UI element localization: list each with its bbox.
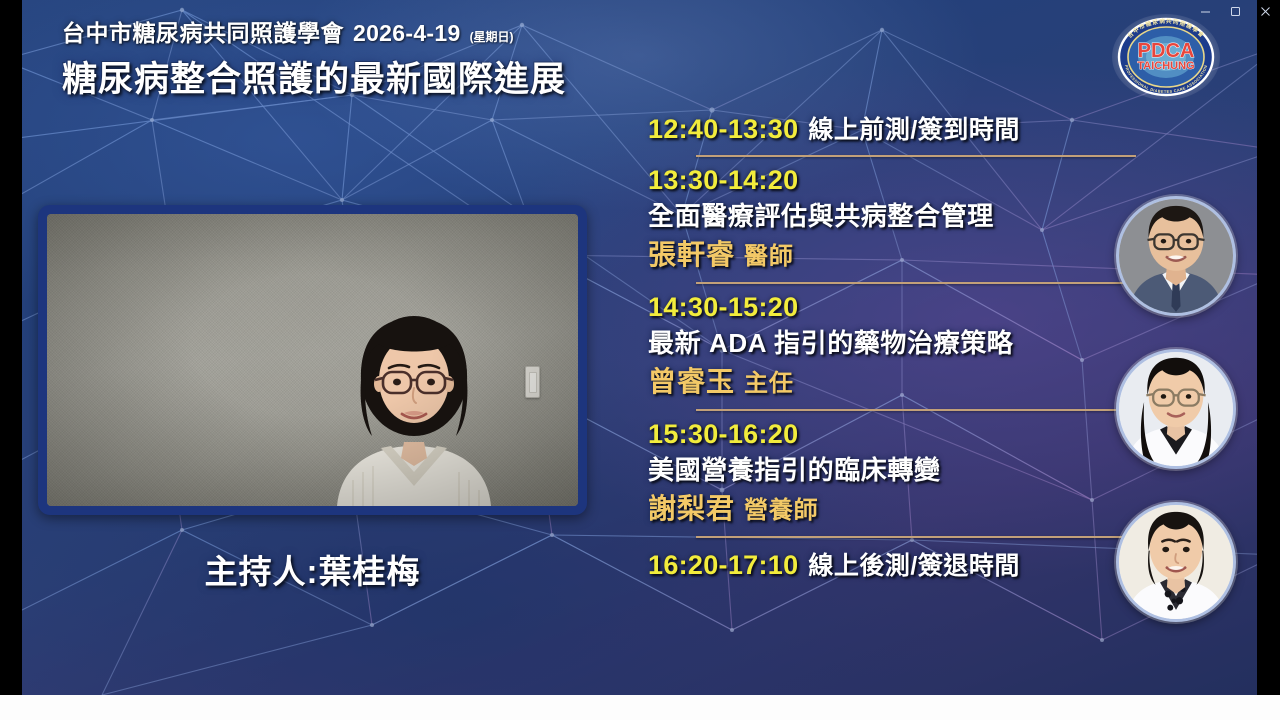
speaker-portrait-icon (1119, 352, 1233, 466)
speaker-avatar (1116, 502, 1236, 622)
agenda-time: 15:30-16:20 (648, 419, 1148, 450)
agenda-item: 16:20-17:10 線上後測/簽退時間 (648, 546, 1148, 582)
agenda-item: 13:30-14:20 全面醫療評估與共病整合管理 張軒睿 醫師 (648, 165, 1148, 273)
agenda-speaker-name: 張軒睿 (648, 233, 735, 273)
window-controls (1190, 0, 1280, 22)
agenda-speaker-name: 曾睿玉 (648, 360, 735, 400)
agenda-note: 線上前測/簽到時間 (808, 110, 1019, 146)
slide-header: 台中市糖尿病共同照護學會 2026-4-19 (星期日) 糖尿病整合照護的最新國… (62, 14, 566, 102)
agenda-speaker-name: 謝梨君 (648, 487, 735, 527)
agenda-speaker-role: 主任 (744, 363, 794, 398)
agenda-speaker-role: 營養師 (744, 490, 818, 525)
pdca-logo: 台中市糖尿病共同照護學會 PROFESSIONAL DIABETES CARE … (1110, 13, 1222, 101)
speaker-avatar (1116, 349, 1236, 469)
close-button[interactable] (1250, 0, 1280, 22)
agenda-item: 15:30-16:20 美國營養指引的臨床轉變 謝梨君 營養師 (648, 419, 1148, 527)
agenda-time: 14:30-15:20 (648, 292, 1148, 323)
agenda-inline-row: 16:20-17:10 線上後測/簽退時間 (648, 546, 1148, 582)
agenda-note: 線上後測/簽退時間 (808, 546, 1019, 582)
speaker-avatar (1116, 196, 1236, 316)
agenda-inline-row: 12:40-13:30 線上前測/簽到時間 (648, 110, 1148, 146)
video-feed (47, 214, 578, 506)
presentation-slide: 台中市糖尿病共同照護學會 2026-4-19 (星期日) 糖尿病整合照護的最新國… (22, 0, 1257, 695)
event-date: 2026-4-19 (353, 20, 461, 47)
agenda-separator (696, 282, 1136, 284)
agenda-item: 14:30-15:20 最新 ADA 指引的藥物治療策略 曾睿玉 主任 (648, 292, 1148, 400)
agenda-item: 12:40-13:30 線上前測/簽到時間 (648, 110, 1148, 146)
agenda-list: 12:40-13:30 線上前測/簽到時間 13:30-14:20 全面醫療評估… (648, 110, 1148, 582)
svg-text:TAICHUNG: TAICHUNG (1137, 60, 1194, 72)
video-panel[interactable] (38, 205, 587, 515)
agenda-time: 16:20-17:10 (648, 550, 798, 581)
agenda-time: 13:30-14:20 (648, 165, 1148, 196)
agenda-separator (696, 155, 1136, 157)
pdca-logo-icon: 台中市糖尿病共同照護學會 PROFESSIONAL DIABETES CARE … (1110, 13, 1222, 101)
svg-text:PDCA: PDCA (1138, 40, 1195, 62)
agenda-topic: 全面醫療評估與共病整合管理 (648, 196, 1148, 233)
screen-root: 台中市糖尿病共同照護學會 2026-4-19 (星期日) 糖尿病整合照護的最新國… (0, 0, 1280, 720)
event-weekday: (星期日) (470, 28, 514, 45)
host-name-label: 主持人:葉桂梅 (38, 545, 587, 593)
close-icon (1260, 6, 1271, 17)
agenda-topic: 美國營養指引的臨床轉變 (648, 450, 1148, 487)
agenda-separator (696, 409, 1136, 411)
speaker-portrait-icon (1119, 199, 1233, 313)
agenda-speaker-role: 醫師 (744, 236, 794, 271)
agenda-topic: 最新 ADA 指引的藥物治療策略 (648, 323, 1148, 360)
agenda-speaker: 曾睿玉 主任 (648, 360, 1148, 400)
video-vignette (47, 214, 578, 506)
bottom-strip (0, 695, 1280, 720)
header-line-1: 台中市糖尿病共同照護學會 2026-4-19 (星期日) (62, 14, 566, 48)
agenda-speaker: 張軒睿 醫師 (648, 233, 1148, 273)
minimize-button[interactable] (1190, 0, 1220, 22)
organization-name: 台中市糖尿病共同照護學會 (62, 14, 344, 48)
speaker-portrait-icon (1119, 505, 1233, 619)
minimize-icon (1200, 6, 1211, 17)
agenda-speaker: 謝梨君 營養師 (648, 487, 1148, 527)
page-title: 糖尿病整合照護的最新國際進展 (62, 51, 566, 102)
restore-icon (1230, 6, 1241, 17)
agenda-time: 12:40-13:30 (648, 114, 798, 145)
agenda-separator (696, 536, 1136, 538)
maximize-button[interactable] (1220, 0, 1250, 22)
